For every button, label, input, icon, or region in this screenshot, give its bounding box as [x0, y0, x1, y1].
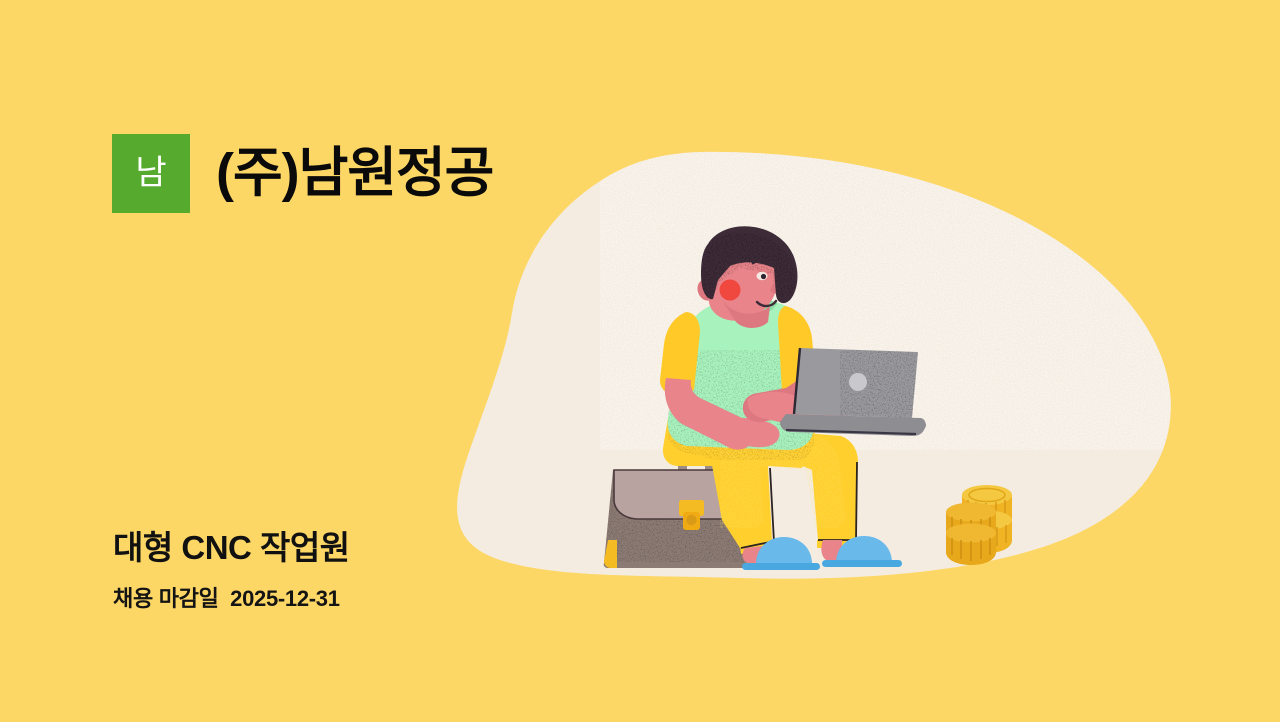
company-header: 남 (주)남원정공 [112, 133, 493, 213]
background-blob [0, 0, 1280, 722]
job-deadline: 채용 마감일 2025-12-31 [113, 581, 340, 613]
company-logo-badge: 남 [112, 134, 190, 213]
job-title: 대형 CNC 작업원 [113, 521, 350, 569]
job-posting-poster: 남 (주)남원정공 대형 CNC 작업원 채용 마감일 2025-12-31 [0, 0, 1280, 722]
company-name: (주)남원정공 [216, 146, 493, 200]
